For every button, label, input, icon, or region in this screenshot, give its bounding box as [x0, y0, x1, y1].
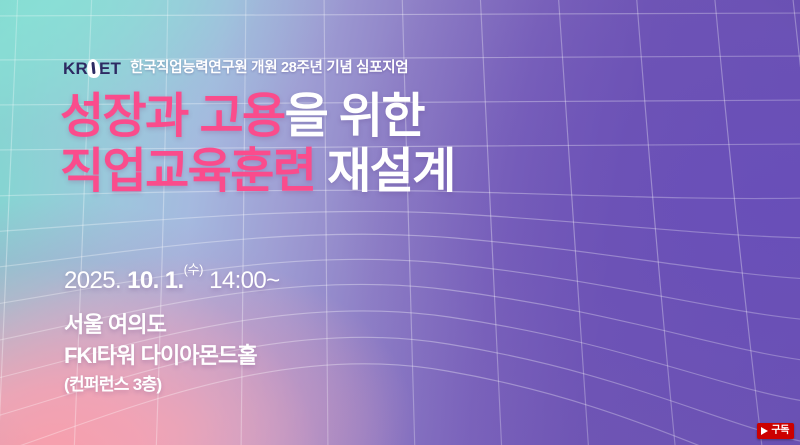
venue-line-2: FKI타워 다이아몬드홀 — [64, 340, 280, 372]
logo-text-suffix: ET — [99, 60, 121, 77]
headline-line2-pink: 직업교육훈련 — [60, 145, 315, 198]
poster-content: KR ET 한국직업능력연구원 개원 28주년 기념 심포지엄 성장과 고용을 … — [0, 0, 800, 445]
subscribe-label: 구독 — [771, 426, 789, 436]
subscribe-button[interactable]: 구독 — [757, 423, 794, 439]
krivet-logo: KR ET — [63, 59, 121, 78]
headline-line2-white: 재설계 — [315, 145, 454, 198]
venue-line-3: (컨퍼런스 3층) — [64, 372, 280, 398]
headline-line-2: 직업교육훈련 재설계 — [60, 145, 455, 200]
headline-line1-white-b: 을 위한 — [285, 90, 424, 143]
event-info-block: 2025. 10. 1.(수) 14:00~ 서울 여의도 FKI타워 다이아몬… — [64, 262, 280, 398]
event-datetime: 2025. 10. 1.(수) 14:00~ — [64, 262, 280, 297]
venue-line-1: 서울 여의도 — [64, 309, 280, 341]
headline-line1-pink-a: 성장과 — [60, 90, 188, 143]
headline-line1-space — [188, 90, 200, 143]
headline-line-1: 성장과 고용을 위한 — [60, 90, 455, 145]
event-date-daymonth: 10. 1. — [127, 267, 183, 294]
headline-line1-pink-b: 고용 — [199, 90, 284, 143]
eyebrow-row: KR ET 한국직업능력연구원 개원 28주년 기념 심포지엄 — [63, 59, 408, 78]
event-time: 14:00~ — [203, 267, 280, 294]
event-date-year: 2025. — [64, 267, 127, 294]
logo-text-prefix: KR — [63, 60, 88, 77]
event-organizer-line: 한국직업능력연구원 개원 28주년 기념 심포지엄 — [130, 61, 408, 76]
event-day-of-week: (수) — [184, 262, 203, 277]
event-venue: 서울 여의도 FKI타워 다이아몬드홀 (컨퍼런스 3층) — [64, 309, 280, 398]
play-triangle-icon — [761, 427, 768, 435]
headline-block: 성장과 고용을 위한 직업교육훈련 재설계 — [60, 90, 455, 199]
symposium-poster: KR ET 한국직업능력연구원 개원 28주년 기념 심포지엄 성장과 고용을 … — [0, 0, 800, 445]
